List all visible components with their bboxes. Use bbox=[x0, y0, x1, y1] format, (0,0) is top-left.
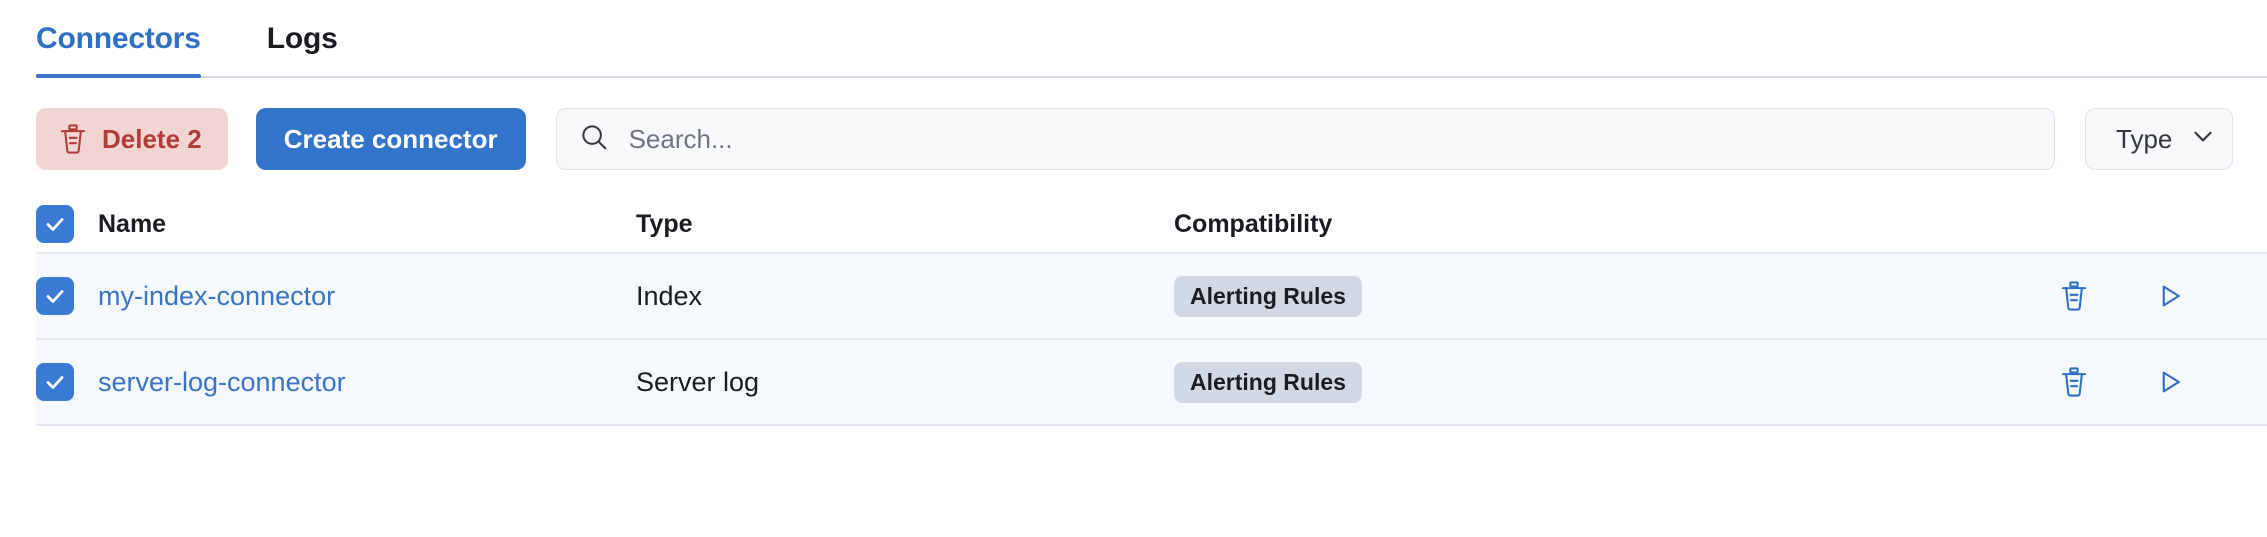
search-icon bbox=[579, 122, 609, 157]
column-header-compatibility: Compatibility bbox=[1174, 210, 2031, 239]
toolbar: Delete 2 Create connector Type bbox=[0, 78, 2267, 168]
select-all-checkbox[interactable] bbox=[36, 205, 74, 243]
connector-name-link[interactable]: my-index-connector bbox=[98, 281, 335, 311]
row-actions-cell bbox=[2031, 366, 2267, 398]
row-run-play-icon[interactable] bbox=[2155, 281, 2185, 311]
row-delete-icon[interactable] bbox=[2059, 280, 2089, 312]
row-checkbox[interactable] bbox=[36, 277, 74, 315]
row-run-play-icon[interactable] bbox=[2155, 367, 2185, 397]
row-actions-cell bbox=[2031, 280, 2267, 312]
trash-icon bbox=[58, 123, 88, 155]
row-select-cell bbox=[36, 363, 98, 401]
create-connector-label: Create connector bbox=[284, 124, 498, 155]
select-all-cell bbox=[36, 205, 98, 243]
search-input[interactable] bbox=[629, 124, 2032, 155]
tab-logs[interactable]: Logs bbox=[235, 0, 362, 78]
tab-logs-label: Logs bbox=[267, 22, 338, 56]
table-row[interactable]: my-index-connector Index Alerting Rules bbox=[36, 254, 2267, 340]
table-header-row: Name Type Compatibility bbox=[36, 196, 2267, 254]
type-filter-dropdown[interactable]: Type bbox=[2085, 108, 2233, 170]
delete-button-label: Delete 2 bbox=[102, 124, 202, 155]
connectors-table: Name Type Compatibility my-index-connect… bbox=[0, 196, 2267, 426]
column-header-name: Name bbox=[98, 210, 636, 239]
connector-name-link[interactable]: server-log-connector bbox=[98, 367, 346, 397]
row-name-cell: server-log-connector bbox=[98, 367, 636, 398]
row-checkbox[interactable] bbox=[36, 363, 74, 401]
type-filter-label: Type bbox=[2116, 124, 2172, 155]
delete-button[interactable]: Delete 2 bbox=[36, 108, 228, 170]
row-type-cell: Index bbox=[636, 281, 1174, 312]
row-compatibility-cell: Alerting Rules bbox=[1174, 362, 2031, 403]
create-connector-button[interactable]: Create connector bbox=[256, 108, 526, 170]
row-type-cell: Server log bbox=[636, 367, 1174, 398]
tab-connectors-label: Connectors bbox=[36, 22, 201, 56]
search-box[interactable] bbox=[556, 108, 2055, 170]
tab-bar: Connectors Logs bbox=[0, 0, 2267, 78]
row-select-cell bbox=[36, 277, 98, 315]
row-delete-icon[interactable] bbox=[2059, 366, 2089, 398]
row-name-cell: my-index-connector bbox=[98, 281, 636, 312]
chevron-down-icon bbox=[2190, 123, 2216, 156]
row-compatibility-cell: Alerting Rules bbox=[1174, 276, 2031, 317]
tab-connectors[interactable]: Connectors bbox=[36, 0, 235, 78]
status-badge: Alerting Rules bbox=[1174, 276, 1362, 317]
column-header-type: Type bbox=[636, 210, 1174, 239]
status-badge: Alerting Rules bbox=[1174, 362, 1362, 403]
table-row[interactable]: server-log-connector Server log Alerting… bbox=[36, 340, 2267, 426]
